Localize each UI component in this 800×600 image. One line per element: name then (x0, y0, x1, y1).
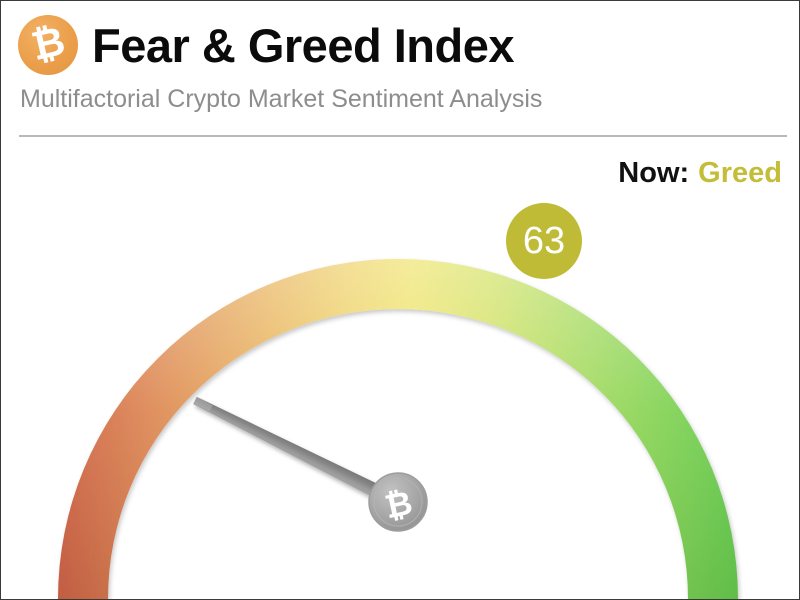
header-divider (19, 135, 787, 137)
fear-greed-index-app: ₿ Fear & Greed Index Multifactorial Cryp… (1, 1, 799, 599)
title-row: ₿ Fear & Greed Index (18, 15, 514, 75)
bitcoin-glyph: ₿ (28, 21, 69, 67)
page-title: Fear & Greed Index (92, 22, 514, 69)
status-badge: Now:Greed (618, 159, 782, 188)
gauge-needle (192, 394, 404, 510)
bitcoin-icon: ₿ (18, 15, 78, 75)
now-label-text: Now: (618, 157, 689, 189)
gauge-value-badge: 63 (506, 203, 582, 279)
svg-text:₿: ₿ (381, 483, 415, 527)
now-value-text: Greed (698, 157, 782, 189)
gauge-arc (58, 259, 738, 599)
bitcoin-needle-hub-icon: ₿ (369, 473, 427, 531)
gauge-value-text: 63 (523, 222, 565, 260)
page-header: ₿ Fear & Greed Index Multifactorial Cryp… (1, 1, 799, 137)
page-subtitle: Multifactorial Crypto Market Sentiment A… (20, 87, 542, 112)
